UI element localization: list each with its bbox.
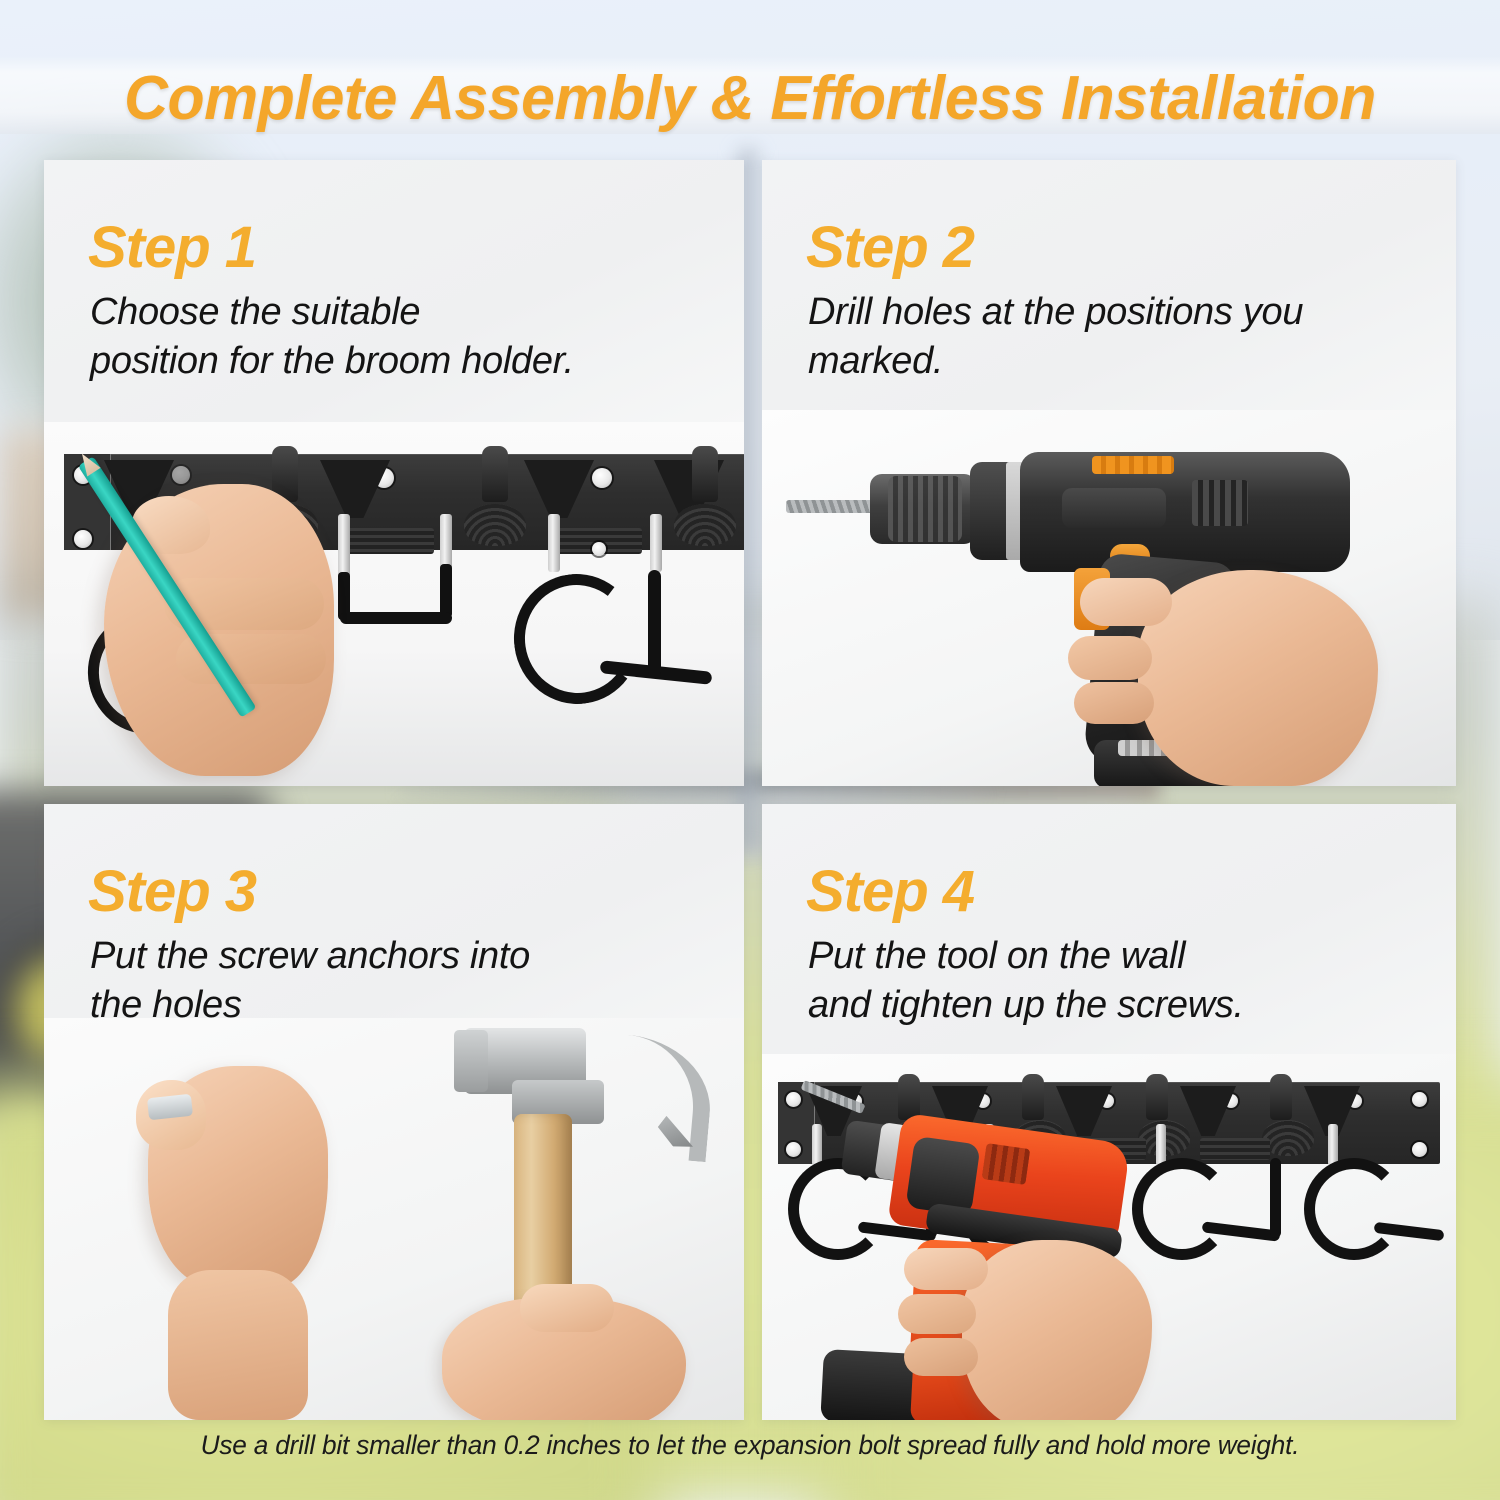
step-2-line-2: marked. xyxy=(808,340,943,382)
step-3-description: Put the screw anchors into the holes xyxy=(90,932,718,1031)
hook-shaft xyxy=(1270,1158,1281,1238)
drill-vents xyxy=(982,1143,1031,1185)
rail-bumper xyxy=(1270,1074,1292,1120)
hook-curve xyxy=(1132,1158,1232,1260)
step-4-heading: Step 4 xyxy=(806,858,974,925)
drill-orange-stripe xyxy=(1092,456,1174,474)
step-4-description: Put the tool on the wall and tighten up … xyxy=(808,932,1430,1031)
rail-fan-grip xyxy=(464,504,526,546)
screw-anchor xyxy=(147,1094,193,1120)
forearm xyxy=(168,1270,308,1420)
rail-bumper xyxy=(482,446,508,502)
step-card-3: Step 3 Put the screw anchors into the ho… xyxy=(44,804,744,1420)
screw-hole xyxy=(1412,1142,1427,1157)
hook-bridge xyxy=(340,612,452,624)
hook-shaft xyxy=(1328,1124,1338,1166)
step-4-photo xyxy=(762,1054,1456,1420)
step-1-description: Choose the suitable position for the bro… xyxy=(90,288,718,387)
screw-hole xyxy=(592,468,612,488)
step-3-line-1: Put the screw anchors into xyxy=(90,935,530,977)
drill-vents xyxy=(1192,480,1248,526)
hook-shaft xyxy=(338,514,350,578)
screw-hole xyxy=(1412,1092,1427,1107)
rail-bumper xyxy=(898,1074,920,1120)
rail-ribs xyxy=(1200,1138,1270,1160)
hook-shaft xyxy=(648,570,661,678)
step-1-photo xyxy=(44,422,744,786)
hook-shaft xyxy=(440,564,452,618)
step-2-heading: Step 2 xyxy=(806,214,974,281)
step-1-line-2: position for the broom holder. xyxy=(90,340,574,382)
screw-hole xyxy=(74,530,92,548)
step-card-4: Step 4 Put the tool on the wall and tigh… xyxy=(762,804,1456,1420)
hand xyxy=(1138,570,1378,786)
step-2-photo xyxy=(762,410,1456,786)
step-3-photo xyxy=(44,1018,744,1420)
footer-note: Use a drill bit smaller than 0.2 inches … xyxy=(23,1430,1478,1461)
step-card-2: Step 2 Drill holes at the positions you … xyxy=(762,160,1456,786)
screw-hole xyxy=(786,1142,801,1157)
step-card-1: Step 1 Choose the suitable position for … xyxy=(44,160,744,786)
hand xyxy=(962,1240,1152,1420)
drill-panel-inset xyxy=(1062,488,1166,528)
page-title: Complete Assembly & Effortless Installat… xyxy=(15,56,1485,140)
drill-bit xyxy=(786,500,878,513)
finger xyxy=(520,1284,614,1332)
step-4-line-1: Put the tool on the wall xyxy=(808,935,1185,977)
hook-shaft xyxy=(650,514,662,572)
screw-hole xyxy=(592,542,606,556)
rail-bumper xyxy=(692,446,718,502)
finger xyxy=(904,1248,988,1290)
hook-shaft xyxy=(812,1124,822,1166)
finger xyxy=(1080,578,1172,626)
drill-chuck-grip xyxy=(888,476,962,542)
hook-curve xyxy=(506,566,649,712)
step-2-line-1: Drill holes at the positions you xyxy=(808,291,1303,333)
hook-curve xyxy=(1304,1158,1404,1260)
finger xyxy=(898,1294,976,1334)
step-1-line-1: Choose the suitable xyxy=(90,291,420,333)
screw-hole xyxy=(172,466,190,484)
rail-ribs xyxy=(342,528,434,554)
rail-bumper xyxy=(1146,1074,1168,1120)
finger xyxy=(904,1338,978,1376)
finger xyxy=(1074,682,1154,724)
step-3-heading: Step 3 xyxy=(88,858,256,925)
step-2-description: Drill holes at the positions you marked. xyxy=(808,288,1430,387)
hammer-face xyxy=(454,1030,488,1092)
rail-fan-grip xyxy=(674,504,736,546)
hook-shaft xyxy=(1156,1124,1166,1166)
step-4-line-2: and tighten up the screws. xyxy=(808,984,1244,1026)
screw-hole xyxy=(786,1092,801,1107)
finger xyxy=(1068,636,1152,680)
rail-bumper xyxy=(1022,1074,1044,1120)
hook-shaft xyxy=(548,514,560,572)
step-1-heading: Step 1 xyxy=(88,214,256,281)
hook-shaft xyxy=(440,514,452,570)
